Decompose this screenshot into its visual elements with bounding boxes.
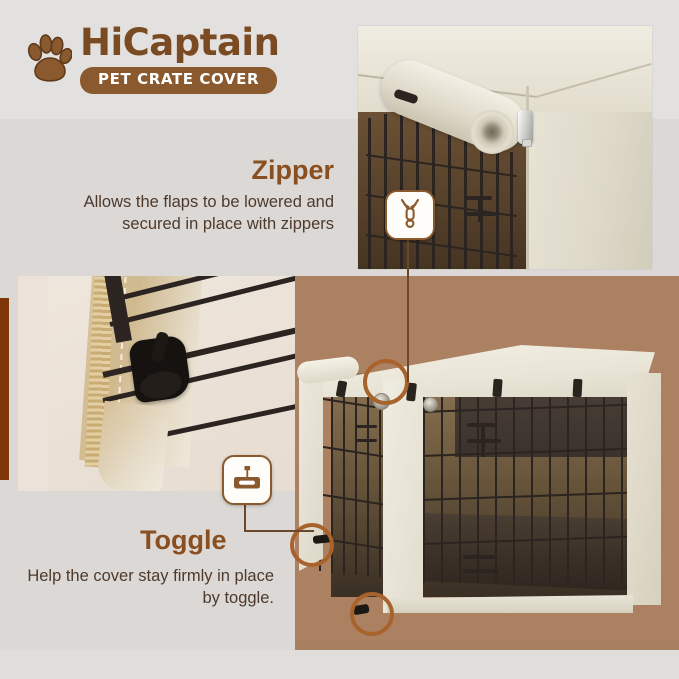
infographic-canvas: HiCaptain PET CRATE COVER — [0, 0, 679, 679]
connector-line-toggle-horizontal — [244, 530, 314, 532]
main-product-photo — [295, 337, 679, 643]
brand-logo: HiCaptain PET CRATE COVER — [26, 24, 279, 94]
brand-name: HiCaptain — [80, 24, 279, 61]
annotation-circle-toggle-lower — [350, 592, 394, 636]
feature-title-zipper: Zipper — [251, 157, 334, 184]
paw-print-icon — [26, 32, 72, 88]
annotation-circle-zipper — [363, 359, 409, 405]
connector-line-toggle-vertical — [244, 501, 246, 530]
left-accent-bar — [0, 298, 9, 480]
bottom-background-strip — [0, 650, 679, 679]
feature-title-toggle: Toggle — [140, 527, 226, 554]
zipper-icon-card — [385, 190, 435, 240]
logo-text-group: HiCaptain PET CRATE COVER — [80, 24, 279, 94]
tagline-text: PET CRATE COVER — [98, 70, 259, 88]
zipper-pull-icon — [395, 197, 425, 234]
toggle-icon-card — [222, 455, 272, 505]
feature-body-toggle: Help the cover stay firmly in place by t… — [20, 566, 274, 610]
feature-body-zipper: Allows the flaps to be lowered and secur… — [34, 192, 334, 236]
tagline-badge: PET CRATE COVER — [80, 67, 277, 94]
toggle-fastener-icon — [231, 463, 263, 498]
connector-line-zipper — [407, 236, 409, 382]
